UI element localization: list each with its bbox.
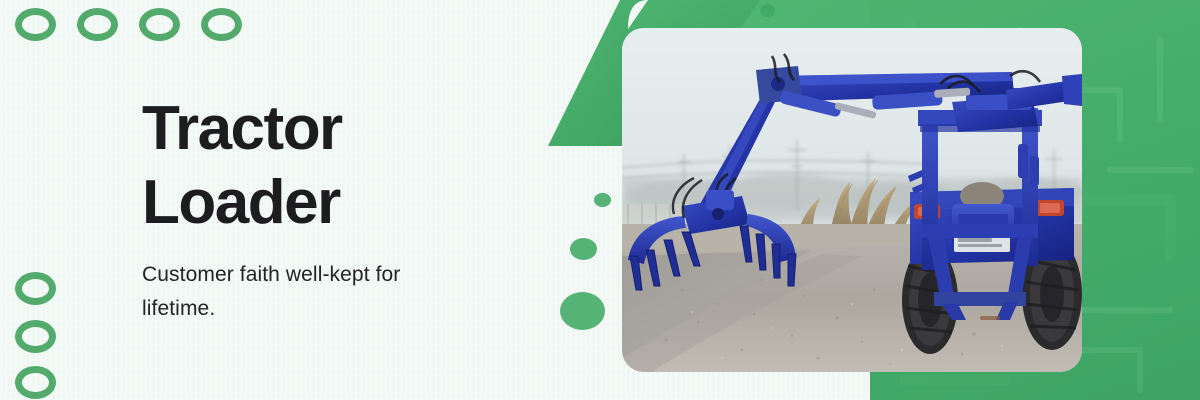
decor-dot-large <box>560 292 605 330</box>
decor-ring-6 <box>15 320 56 353</box>
decor-ring-3 <box>139 8 180 41</box>
decor-dot-top <box>760 4 775 17</box>
headline-block: Tractor Loader Customer faith well-kept … <box>142 92 542 326</box>
decor-ring-5 <box>15 272 56 305</box>
product-photo-card <box>622 28 1082 372</box>
subtitle: Customer faith well-kept for lifetime. <box>142 258 472 326</box>
decor-ring-7 <box>15 366 56 399</box>
decor-ring-2 <box>77 8 118 41</box>
decor-ring-4 <box>201 8 242 41</box>
tractor-loader-photo <box>622 28 1082 372</box>
page-title: Tractor Loader <box>142 92 542 240</box>
decor-dot-small <box>594 193 611 207</box>
decor-ring-1 <box>15 8 56 41</box>
decor-dot-medium <box>570 238 597 260</box>
promo-banner: Tractor Loader Customer faith well-kept … <box>0 0 1200 400</box>
